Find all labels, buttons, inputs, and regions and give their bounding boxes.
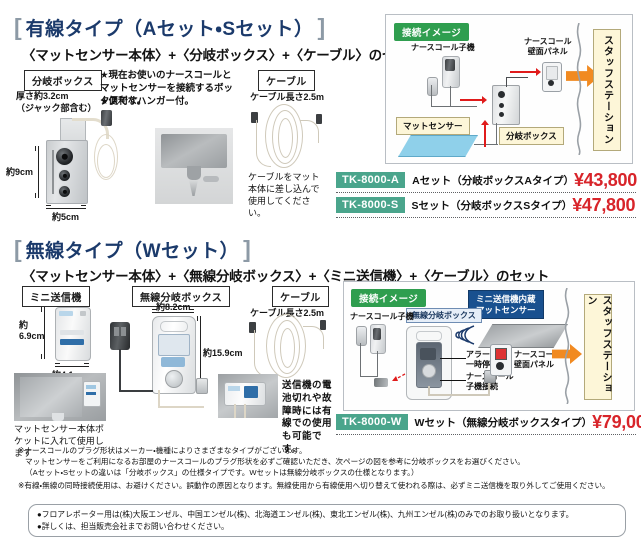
- product-desc-tk8000s: Sセット（分岐ボックスSタイプ）: [412, 198, 573, 213]
- distribution-notice-line-1: ●フロアレポーター用は(株)大阪エンゼル、中国エンゼル(株)、北海道エンゼル(株…: [37, 509, 617, 521]
- footnote-1-line-3: （Aセット・Sセットの違いは「分岐ボックス」の仕様タイプです。Wセットは無線分岐…: [18, 468, 628, 479]
- wireless-connection-diagram: 接続イメージ ミニ送信機内蔵 マットセンサー 無線分岐ボックス: [343, 281, 635, 411]
- distribution-notice-box: ●フロアレポーター用は(株)大阪エンゼル、中国エンゼル(株)、北海道エンゼル(株…: [28, 504, 626, 537]
- product-code-tk8000w: TK-8000-W: [336, 414, 408, 430]
- feature-note-2: ★便利なハンガー付。: [100, 96, 235, 109]
- diagram-tag-wired: 接続イメージ: [394, 23, 469, 41]
- wireless-section-header: [ 無線タイプ（Wセット） ]: [14, 236, 251, 263]
- wired-section-title: 有線タイプ（Aセット・Sセット）: [26, 14, 314, 41]
- wall-divider-icon-2: [560, 288, 574, 404]
- price-tk8000a: ¥43,800: [574, 170, 637, 191]
- mat-sensor-pocket-photo: [14, 373, 106, 421]
- wireless-box-width-dim: 約8.2cm: [156, 300, 191, 313]
- diagram-label-wireless-box: 無線分岐ボックス: [406, 308, 482, 323]
- distribution-notice-line-2: ●詳しくは、担当販売会社までお問い合わせください。: [37, 521, 617, 533]
- diagram-label-wallpanel: ナースコール 壁面パネル: [524, 37, 572, 56]
- wireless-box-height-dim: 約15.9cm: [203, 346, 243, 359]
- diagram-staff-station-2: スタッフステーション: [584, 294, 612, 400]
- bracket-open-icon-2: [: [14, 238, 22, 261]
- cable-length-note: ケーブル長さ2.5m: [250, 90, 324, 103]
- bracket-open-icon: [: [14, 16, 22, 39]
- caption-cable-2: ケーブル: [272, 286, 329, 307]
- footnote-1: ※ナースコールのプラグ形状はメーカー・機種によりさまざまなタイプがございます。 …: [18, 446, 628, 478]
- caption-branch-box: 分岐ボックス: [24, 70, 102, 91]
- footnote-2-line-1: 有線・無線の同時接続使用は、お避けください。誤動作の原因となります。無線使用から…: [24, 481, 609, 490]
- caption-mini-transmitter: ミニ送信機: [22, 286, 90, 307]
- ac-adapter-art: [110, 322, 130, 350]
- price-row-tk8000s: TK-8000-S Sセット（分岐ボックスSタイプ） ¥47,800 （税抜）: [336, 194, 636, 216]
- mat-sensor-connector-photo: [155, 128, 233, 204]
- branch-box-height-dim: 約9cm: [6, 165, 33, 178]
- diagram-label-branchbox: 分岐ボックス: [499, 127, 564, 145]
- catalog-page: [ 有線タイプ（Aセット・Sセット） ] 〈マットセンサー本体〉+〈分岐ボックス…: [0, 0, 641, 556]
- wired-section-header: [ 有線タイプ（Aセット・Sセット） ]: [14, 14, 325, 41]
- wireless-waves-icon: [448, 324, 478, 346]
- price-tk8000s: ¥47,800: [572, 195, 635, 216]
- diagram-label-handset: ナースコール子機: [411, 43, 475, 53]
- cable-usage-note: ケーブルをマット本体に差し込んで使用してください。: [248, 172, 320, 220]
- diagram-label-matsensor: マットセンサー: [396, 117, 470, 135]
- diagram-matsensor-art: [398, 135, 478, 157]
- dashed-arrow-icon: [390, 370, 406, 380]
- diagram-tag-wireless: 接続イメージ: [351, 289, 426, 307]
- wireless-section-title: 無線タイプ（Wセット）: [26, 236, 239, 263]
- footnote-1-line-1: ナースコールのプラグ形状はメーカー・機種によりさまざまなタイプがございます。: [24, 446, 306, 455]
- price-row-tk8000w: TK-8000-W Wセット（無線分岐ボックスタイプ） ¥79,000 （税抜）: [336, 411, 636, 433]
- footnote-2: ※有線・無線の同時接続使用は、お避けください。誤動作の原因となります。無線使用か…: [18, 481, 628, 492]
- bracket-close-icon-2: ]: [243, 238, 251, 261]
- wired-fallback-photo: [218, 374, 278, 418]
- wall-divider-icon: [572, 23, 586, 155]
- footnote-1-line-2: マットセンサーをご利用になるお部屋のナースコールのプラグ形状を必ずご確認いただき…: [18, 457, 628, 468]
- product-desc-tk8000w: Wセット（無線分岐ボックスタイプ）: [415, 415, 593, 430]
- mini-transmitter-height-dim: 約 6.9cm: [19, 320, 45, 343]
- diagram-staff-station: スタッフステーション: [593, 29, 621, 151]
- feature-note-2-text: ★便利なハンガー付。: [100, 96, 194, 109]
- branch-box-width-dim: 約5cm: [52, 210, 79, 223]
- wired-section-subtitle: 〈マットセンサー本体〉+〈分岐ボックス〉+〈ケーブル〉のセット: [22, 44, 422, 64]
- product-code-tk8000s: TK-8000-S: [336, 197, 405, 213]
- price-tk8000w: ¥79,000: [592, 412, 641, 433]
- diagram-label-handset-2: ナースコール子機: [350, 312, 414, 322]
- product-code-tk8000a: TK-8000-A: [336, 172, 405, 188]
- caption-cable: ケーブル: [258, 70, 315, 91]
- price-row-tk8000a: TK-8000-A Aセット（分岐ボックスAタイプ） ¥43,800 （税抜）: [336, 169, 636, 191]
- wired-connection-diagram: 接続イメージ ナースコール子機 ナースコール 壁面パネル: [385, 14, 633, 164]
- product-desc-tk8000a: Aセット（分岐ボックスAタイプ）: [412, 173, 574, 188]
- diagram-branch-box-art: [492, 85, 520, 125]
- branch-box-thickness-note: 厚さ約3.2cm （ジャック部含む）: [16, 90, 97, 114]
- bracket-close-icon: ]: [318, 16, 326, 39]
